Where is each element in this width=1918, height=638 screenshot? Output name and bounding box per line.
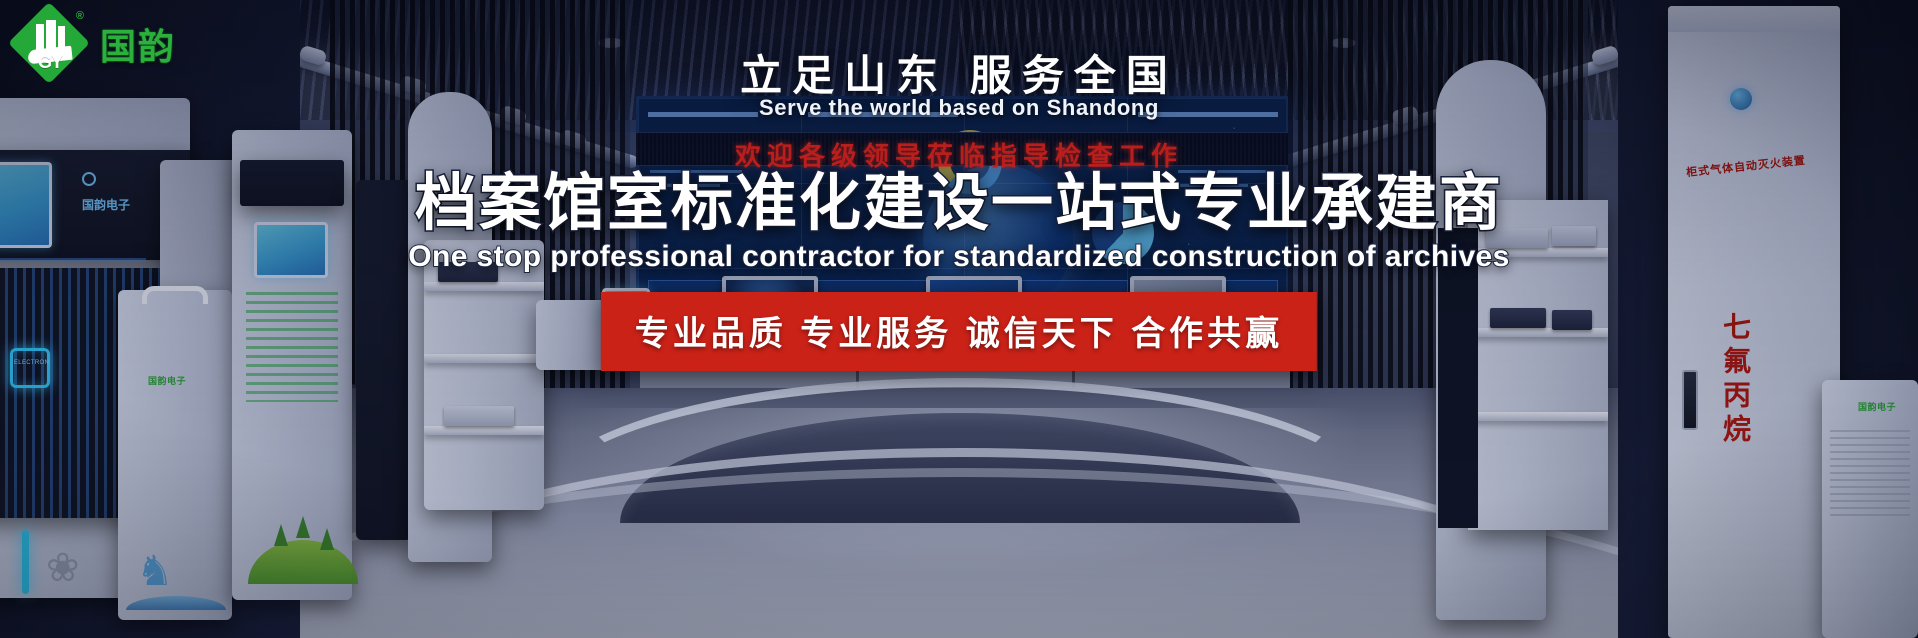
tagline-cn: 立足山东 服务全国 <box>0 42 1918 103</box>
registered-trademark-icon: ® <box>76 10 84 22</box>
brand-logo[interactable]: GY ® 国韵 <box>14 8 176 80</box>
page-subtitle: One stop professional contractor for sta… <box>0 240 1918 274</box>
logo-building-bar <box>46 20 56 50</box>
brand-name: 国韵 <box>100 18 176 70</box>
hero-banner: 国韵电子 ELECTRON ❀ 国韵电子 ♞ <box>0 0 1918 638</box>
slogan-banner[interactable]: 专业品质 专业服务 诚信天下 合作共赢 <box>601 292 1317 371</box>
logo-initials: GY <box>14 52 86 73</box>
slogan-text: 专业品质 专业服务 诚信天下 合作共赢 <box>635 315 1283 353</box>
logo-building-bar <box>36 24 44 50</box>
led-marquee-text: 欢迎各级领导莅临指导检查工作 <box>0 136 1918 173</box>
tagline-en: Serve the world based on Shandong <box>0 95 1918 121</box>
gy-diamond-logo-icon: GY ® <box>14 8 86 80</box>
